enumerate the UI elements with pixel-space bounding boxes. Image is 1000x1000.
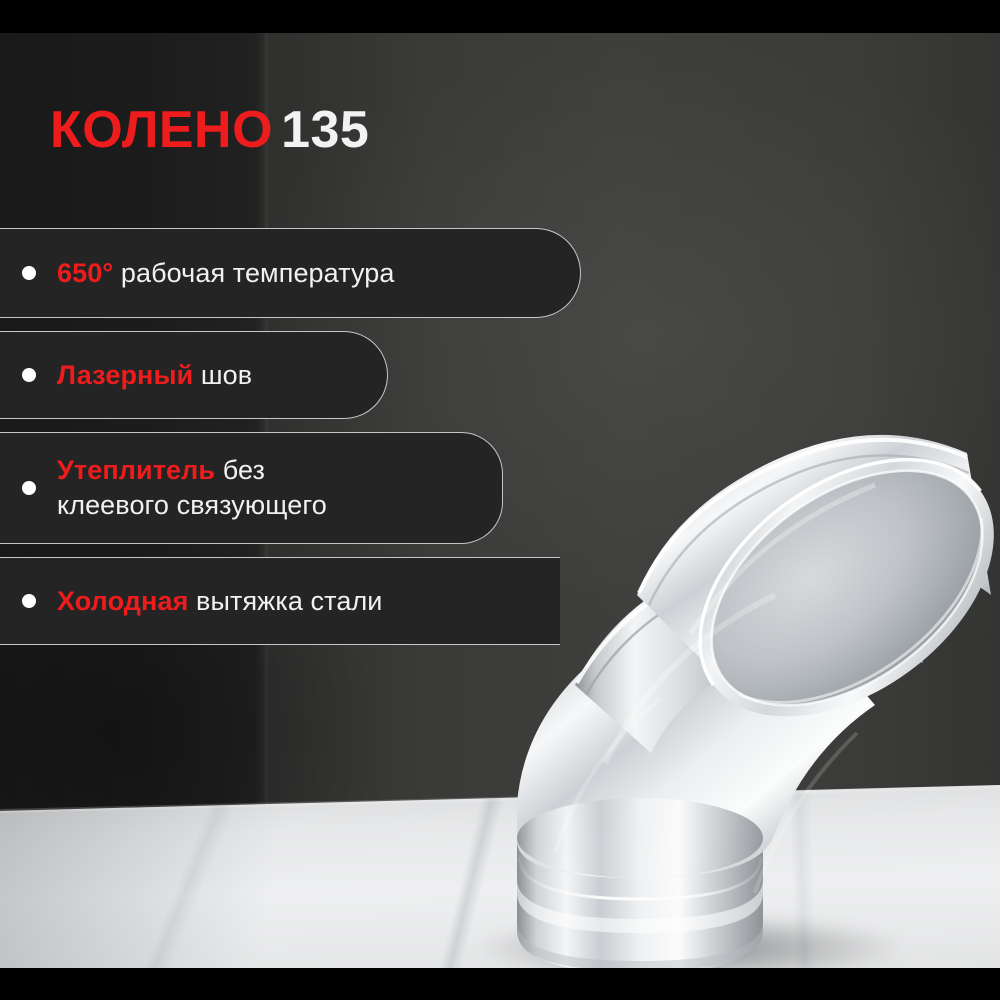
letterbox-bottom — [0, 968, 1000, 1000]
feature-accent: Холодная — [57, 586, 188, 616]
feature-text: Утеплитель безклеевого связующего — [57, 453, 327, 522]
feature-text: 650° рабочая температура — [57, 256, 395, 291]
feature-item-laser-seam: Лазерный шов — [0, 331, 388, 419]
bullet-dot-icon — [22, 266, 36, 280]
feature-rest: шов — [193, 360, 252, 390]
letterbox-top — [0, 0, 1000, 33]
feature-list: 650° рабочая температура Лазерный шов Ут… — [0, 228, 640, 658]
floor-shadow-gradient — [0, 785, 430, 968]
product-banner: КОЛЕНО135 650° рабочая температура Лазер… — [0, 0, 1000, 1000]
feature-item-cold-drawn-steel: Холодная вытяжка стали — [0, 557, 560, 645]
feature-line2: клеевого связующего — [57, 490, 327, 520]
title-secondary: 135 — [281, 101, 369, 159]
bullet-dot-icon — [22, 481, 36, 495]
feature-text: Холодная вытяжка стали — [57, 584, 382, 619]
bullet-dot-icon — [22, 594, 36, 608]
feature-rest: вытяжка стали — [188, 586, 382, 616]
page-title: КОЛЕНО135 — [50, 104, 369, 156]
feature-text: Лазерный шов — [57, 358, 252, 393]
title-primary: КОЛЕНО — [50, 101, 273, 159]
feature-accent: Утеплитель — [57, 455, 215, 485]
feature-accent: 650° — [57, 258, 113, 288]
feature-accent: Лазерный — [57, 360, 193, 390]
feature-rest: без — [215, 455, 265, 485]
feature-item-temperature: 650° рабочая температура — [0, 228, 581, 318]
bullet-dot-icon — [22, 368, 36, 382]
feature-rest: рабочая температура — [113, 258, 394, 288]
feature-item-insulation: Утеплитель безклеевого связующего — [0, 432, 503, 544]
